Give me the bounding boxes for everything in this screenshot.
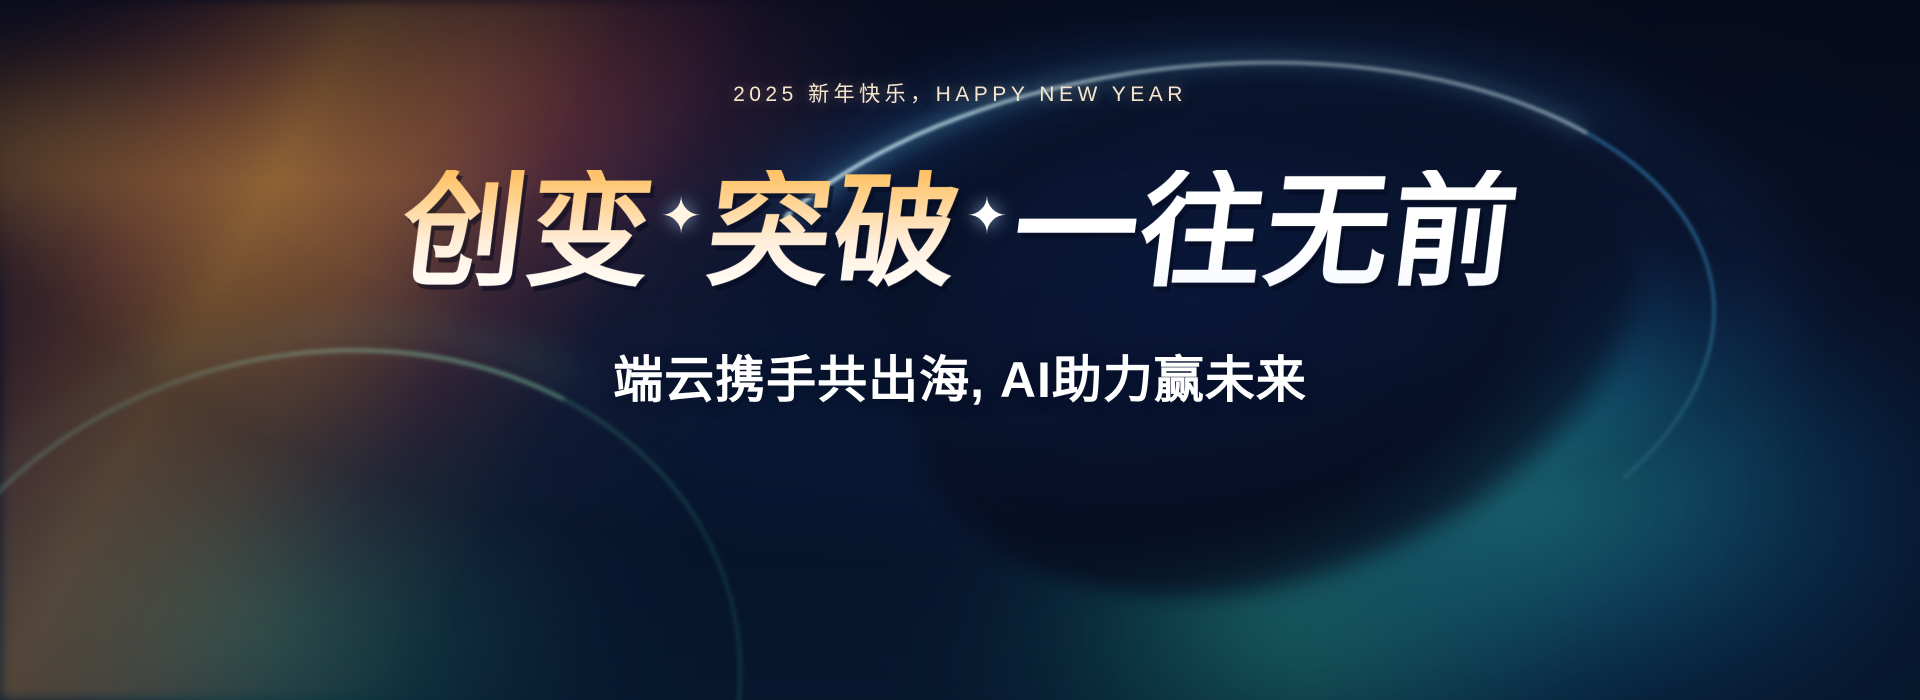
eyebrow-text: 2025 新年快乐，HAPPY NEW YEAR	[733, 78, 1187, 108]
sparkle-icon-1: ✦	[660, 191, 702, 241]
headline: 创变 ✦ 突破 ✦ 一往无前	[402, 170, 1518, 294]
new-year-banner: 2025 新年快乐，HAPPY NEW YEAR 创变 ✦ 突破 ✦ 一往无前 …	[0, 0, 1920, 700]
headline-segment-tupo: 突破	[700, 170, 967, 294]
subtitle-text: 端云携手共出海, AI助力赢未来	[613, 340, 1307, 412]
headline-segment-yiwangwuqian: 一往无前	[1006, 170, 1525, 294]
banner-content: 2025 新年快乐，HAPPY NEW YEAR 创变 ✦ 突破 ✦ 一往无前 …	[0, 0, 1920, 700]
headline-segment-chuangbian: 创变	[394, 170, 661, 294]
sparkle-icon-2: ✦	[966, 191, 1008, 241]
